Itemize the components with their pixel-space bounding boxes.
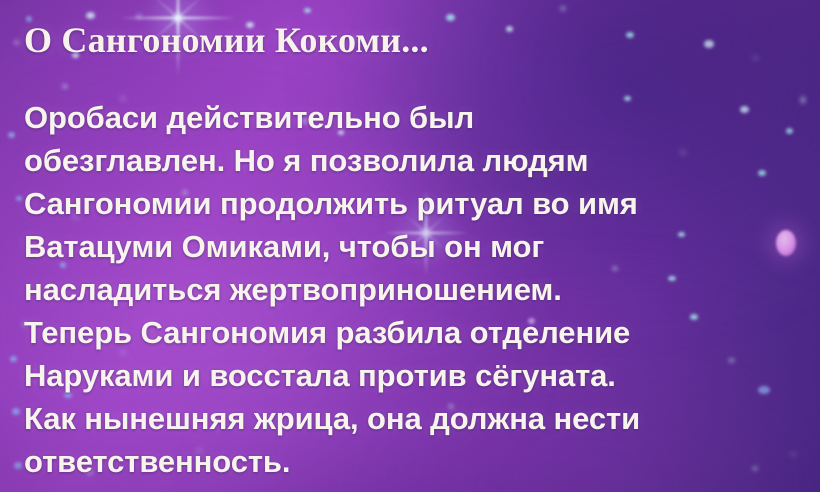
card-title: О Сангономии Кокоми... [24, 18, 429, 62]
body-line: Ватацуми Омиками, чтобы он мог [24, 225, 784, 268]
body-line: насладиться жертвоприношением. [24, 268, 784, 311]
card-body: Оробаси действительно был обезглавлен. Н… [24, 96, 784, 483]
dialogue-card: О Сангономии Кокоми... Оробаси действите… [0, 0, 820, 492]
text-layer: О Сангономии Кокоми... Оробаси действите… [0, 0, 820, 492]
body-line: Наруками и восстала против сёгуната. [24, 354, 784, 397]
body-line: ответственность. [24, 440, 784, 483]
body-line: Оробаси действительно был [24, 96, 784, 139]
body-line: Сангономии продолжить ритуал во имя [24, 182, 784, 225]
body-line: обезглавлен. Но я позволила людям [24, 139, 784, 182]
body-line: Теперь Сангономия разбила отделение [24, 311, 784, 354]
body-line: Как нынешняя жрица, она должна нести [24, 397, 784, 440]
